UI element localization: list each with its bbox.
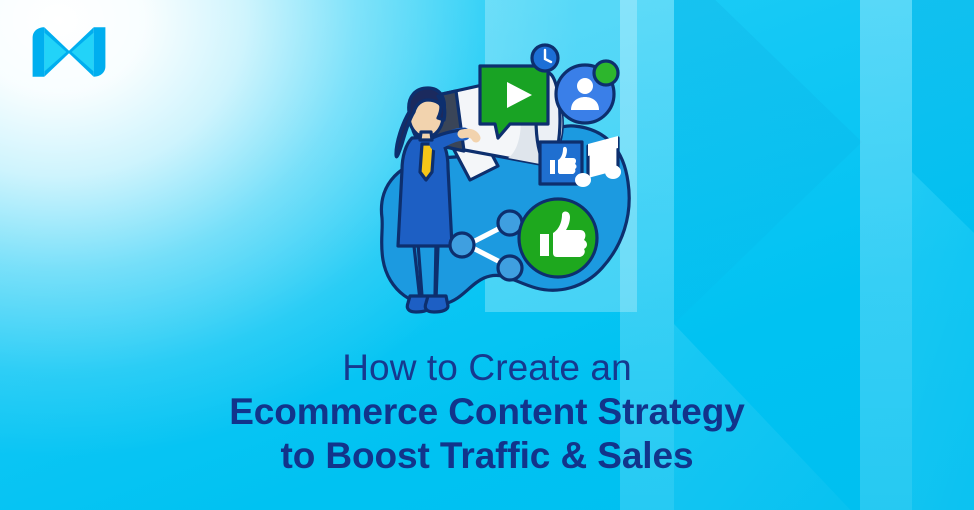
clock-icon	[532, 45, 558, 71]
like-thumbs-up-circle-icon	[519, 199, 597, 277]
headline-line-3: to Boost Traffic & Sales	[0, 436, 974, 476]
headline-line-2: Ecommerce Content Strategy	[0, 392, 974, 432]
user-avatar-icon	[556, 61, 618, 123]
online-status-dot	[594, 61, 618, 85]
content-marketing-illustration: .ol { stroke:#0D2F6E; stroke-width:3.2; …	[352, 38, 652, 330]
nethunt-n-logo[interactable]	[30, 26, 108, 78]
headline-line-1: How to Create an	[0, 348, 974, 388]
page-title: How to Create an Ecommerce Content Strat…	[0, 348, 974, 476]
promo-banner: .ol { stroke:#0D2F6E; stroke-width:3.2; …	[0, 0, 974, 510]
